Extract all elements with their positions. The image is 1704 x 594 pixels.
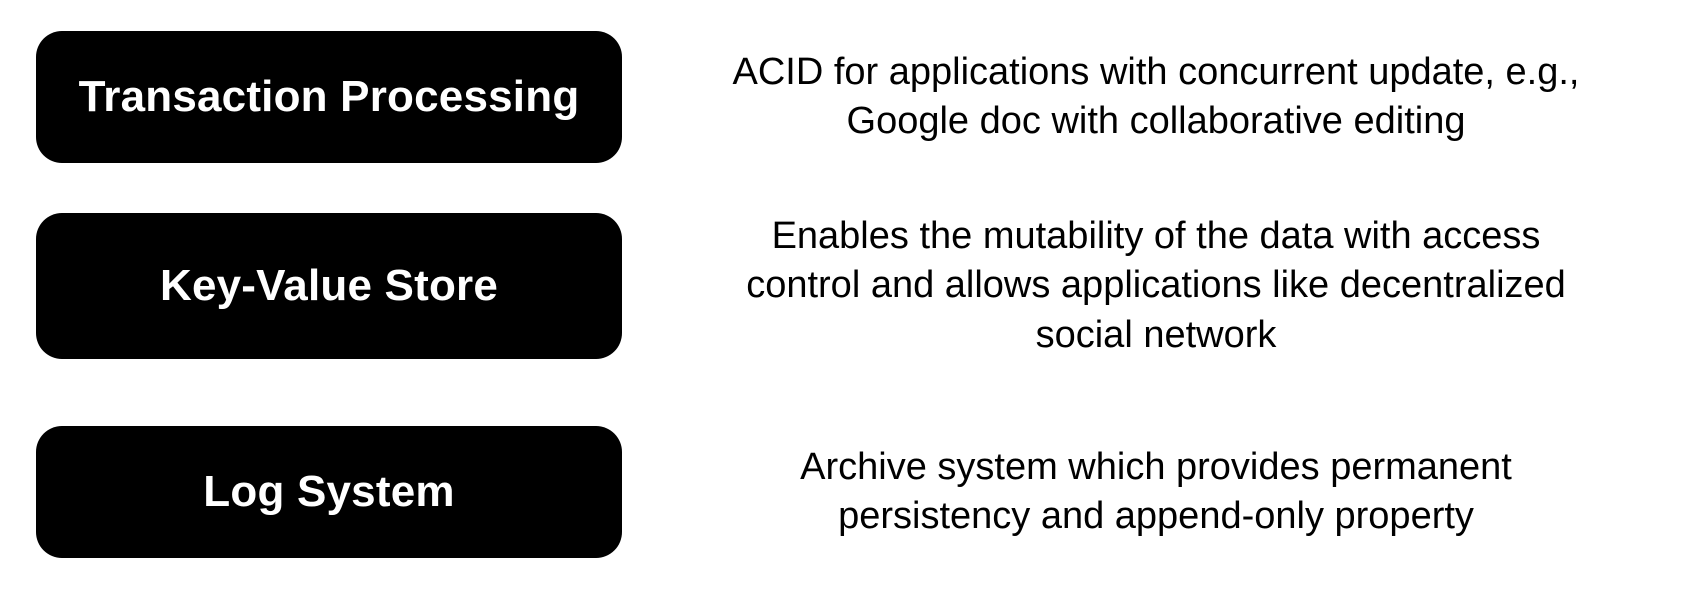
- component-label-box-key-value-store[interactable]: Key-Value Store: [36, 213, 622, 359]
- component-label-text: Transaction Processing: [79, 74, 580, 120]
- component-description-text: ACID for applications with concurrent up…: [716, 48, 1596, 147]
- component-label-cell: Key-Value Store: [0, 213, 622, 359]
- component-label-text: Key-Value Store: [160, 263, 498, 309]
- component-description-cell: ACID for applications with concurrent up…: [622, 31, 1704, 163]
- component-description-text: Archive system which provides permanent …: [761, 443, 1551, 542]
- component-label-text: Log System: [203, 469, 454, 515]
- component-description-cell: Archive system which provides permanent …: [622, 426, 1704, 558]
- component-label-cell: Log System: [0, 426, 622, 558]
- component-row: Transaction Processing ACID for applicat…: [0, 31, 1704, 163]
- component-label-box-log-system[interactable]: Log System: [36, 426, 622, 558]
- component-row: Log System Archive system which provides…: [0, 426, 1704, 558]
- component-description-cell: Enables the mutability of the data with …: [622, 213, 1704, 359]
- component-label-cell: Transaction Processing: [0, 31, 622, 163]
- component-description-text: Enables the mutability of the data with …: [726, 212, 1586, 360]
- component-row: Key-Value Store Enables the mutability o…: [0, 213, 1704, 359]
- component-label-box-transaction-processing[interactable]: Transaction Processing: [36, 31, 622, 163]
- slide-canvas: Transaction Processing ACID for applicat…: [0, 0, 1704, 594]
